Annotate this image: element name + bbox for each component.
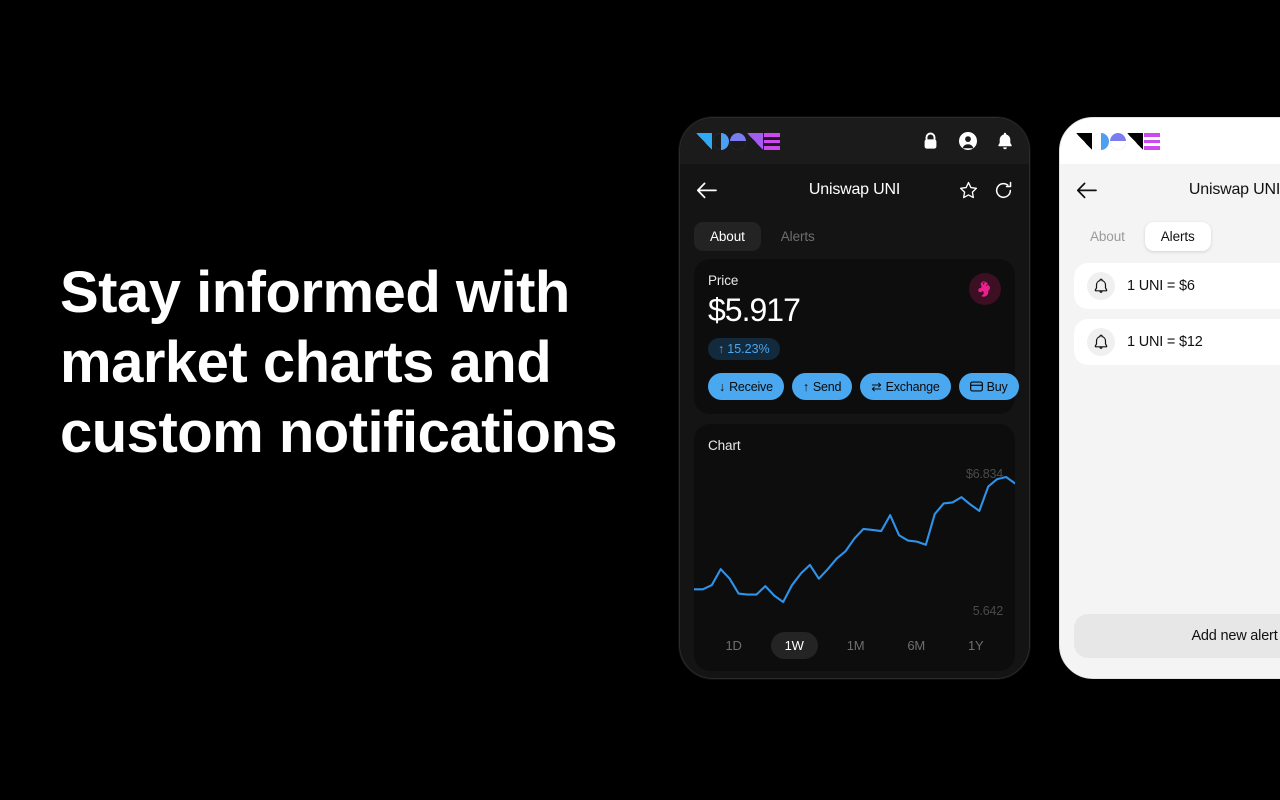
logo-glyph-o1 (713, 133, 729, 150)
price-card-label: Price (708, 273, 1001, 288)
alert-list: 1 UNI = $6 1 UNI = $12 (1074, 259, 1280, 365)
price-card: Price $5.917 ↑ 15.23% ↓ Receive (694, 259, 1015, 414)
send-arrow-icon: ↑ (803, 380, 809, 394)
range-1w[interactable]: 1W (771, 632, 818, 659)
star-icon[interactable] (959, 181, 978, 200)
tab-bar-alerts: About Alerts (1060, 216, 1280, 259)
refresh-icon[interactable] (994, 181, 1013, 200)
logo-glyph-o1 (1093, 133, 1109, 150)
profile-icon[interactable] (959, 132, 977, 150)
back-arrow-icon[interactable] (696, 182, 717, 199)
receive-arrow-icon: ↓ (719, 380, 725, 394)
noone-logo-light (1076, 133, 1160, 150)
tab-alerts[interactable]: Alerts (1145, 222, 1211, 251)
bell-icon (1087, 272, 1115, 300)
price-change-badge: ↑ 15.23% (708, 338, 780, 360)
alert-list-item[interactable]: 1 UNI = $12 (1074, 319, 1280, 365)
logo-glyph-n2 (747, 133, 763, 150)
logo-glyph-o2 (1110, 133, 1126, 150)
send-label: Send (813, 380, 841, 394)
page-headline: Stay informed with market charts and cus… (60, 258, 660, 468)
chart-low-label: 5.642 (973, 604, 1003, 618)
logo-glyph-n1 (696, 133, 712, 150)
add-new-alert-button[interactable]: Add new alert (1074, 614, 1280, 658)
range-6m[interactable]: 6M (893, 632, 939, 659)
headline-line-2: market charts and (60, 328, 660, 398)
phone-mockup-alerts: Uniswap UNI About Alerts 1 UNI = $6 (1059, 117, 1280, 679)
logo-glyph-e (764, 133, 780, 150)
logo-glyph-n2 (1127, 133, 1143, 150)
alerts-content: 1 UNI = $6 1 UNI = $12 Add new alert (1060, 259, 1280, 678)
chart-high-label: $6.834 (966, 467, 1003, 481)
chart-range-selector: 1D 1W 1M 6M 1Y (694, 624, 1015, 663)
price-change-arrow: ↑ (718, 342, 724, 356)
send-button[interactable]: ↑ Send (792, 373, 852, 400)
range-1m[interactable]: 1M (833, 632, 879, 659)
bell-icon[interactable] (997, 132, 1013, 150)
uniswap-unicorn-icon (969, 273, 1001, 305)
exchange-swap-icon: ⇄ (871, 379, 881, 394)
headline-line-1: Stay informed with (60, 258, 660, 328)
card-icon (970, 381, 983, 392)
phone-mockup-about: Uniswap UNI About Alerts Price $5.91 (679, 117, 1030, 679)
price-change-value: 15.23% (727, 342, 769, 356)
chart-line-svg (694, 459, 1015, 624)
lock-icon[interactable] (922, 132, 939, 150)
exchange-label: Exchange (886, 380, 940, 394)
app-brand-bar-light (1060, 118, 1280, 164)
nav-bar-alerts: Uniswap UNI (1060, 164, 1280, 216)
alert-label: 1 UNI = $12 (1127, 334, 1203, 350)
tab-bar-about: About Alerts (680, 216, 1029, 259)
chart-card: Chart $6.834 5.642 1D 1W 1M 6M 1Y (694, 424, 1015, 671)
logo-glyph-n1 (1076, 133, 1092, 150)
logo-glyph-o2 (730, 133, 746, 150)
bell-icon (1087, 328, 1115, 356)
buy-label: Buy (987, 380, 1008, 394)
price-value: $5.917 (708, 292, 1001, 329)
range-1d[interactable]: 1D (711, 632, 755, 659)
tab-about[interactable]: About (1074, 222, 1141, 251)
page-root: Stay informed with market charts and cus… (0, 0, 1280, 800)
nav-bar-about: Uniswap UNI (680, 164, 1029, 216)
app-brand-bar (680, 118, 1029, 164)
action-buttons: ↓ Receive ↑ Send ⇄ Exchange (708, 373, 1001, 400)
receive-label: Receive (729, 380, 773, 394)
chart-card-label: Chart (694, 438, 1015, 453)
alert-label: 1 UNI = $6 (1127, 278, 1195, 294)
range-1y[interactable]: 1Y (954, 632, 998, 659)
noone-logo (696, 133, 780, 150)
headline-line-3: custom notifications (60, 398, 660, 468)
about-content: Price $5.917 ↑ 15.23% ↓ Receive (680, 259, 1029, 678)
buy-button[interactable]: Buy (959, 373, 1019, 400)
tab-about[interactable]: About (694, 222, 761, 251)
price-chart[interactable]: $6.834 5.642 (694, 459, 1015, 624)
back-arrow-icon[interactable] (1076, 182, 1097, 199)
tab-alerts[interactable]: Alerts (765, 222, 831, 251)
alert-list-item[interactable]: 1 UNI = $6 (1074, 263, 1280, 309)
logo-glyph-e (1144, 133, 1160, 150)
receive-button[interactable]: ↓ Receive (708, 373, 784, 400)
status-icons (922, 132, 1013, 150)
exchange-button[interactable]: ⇄ Exchange (860, 373, 950, 400)
